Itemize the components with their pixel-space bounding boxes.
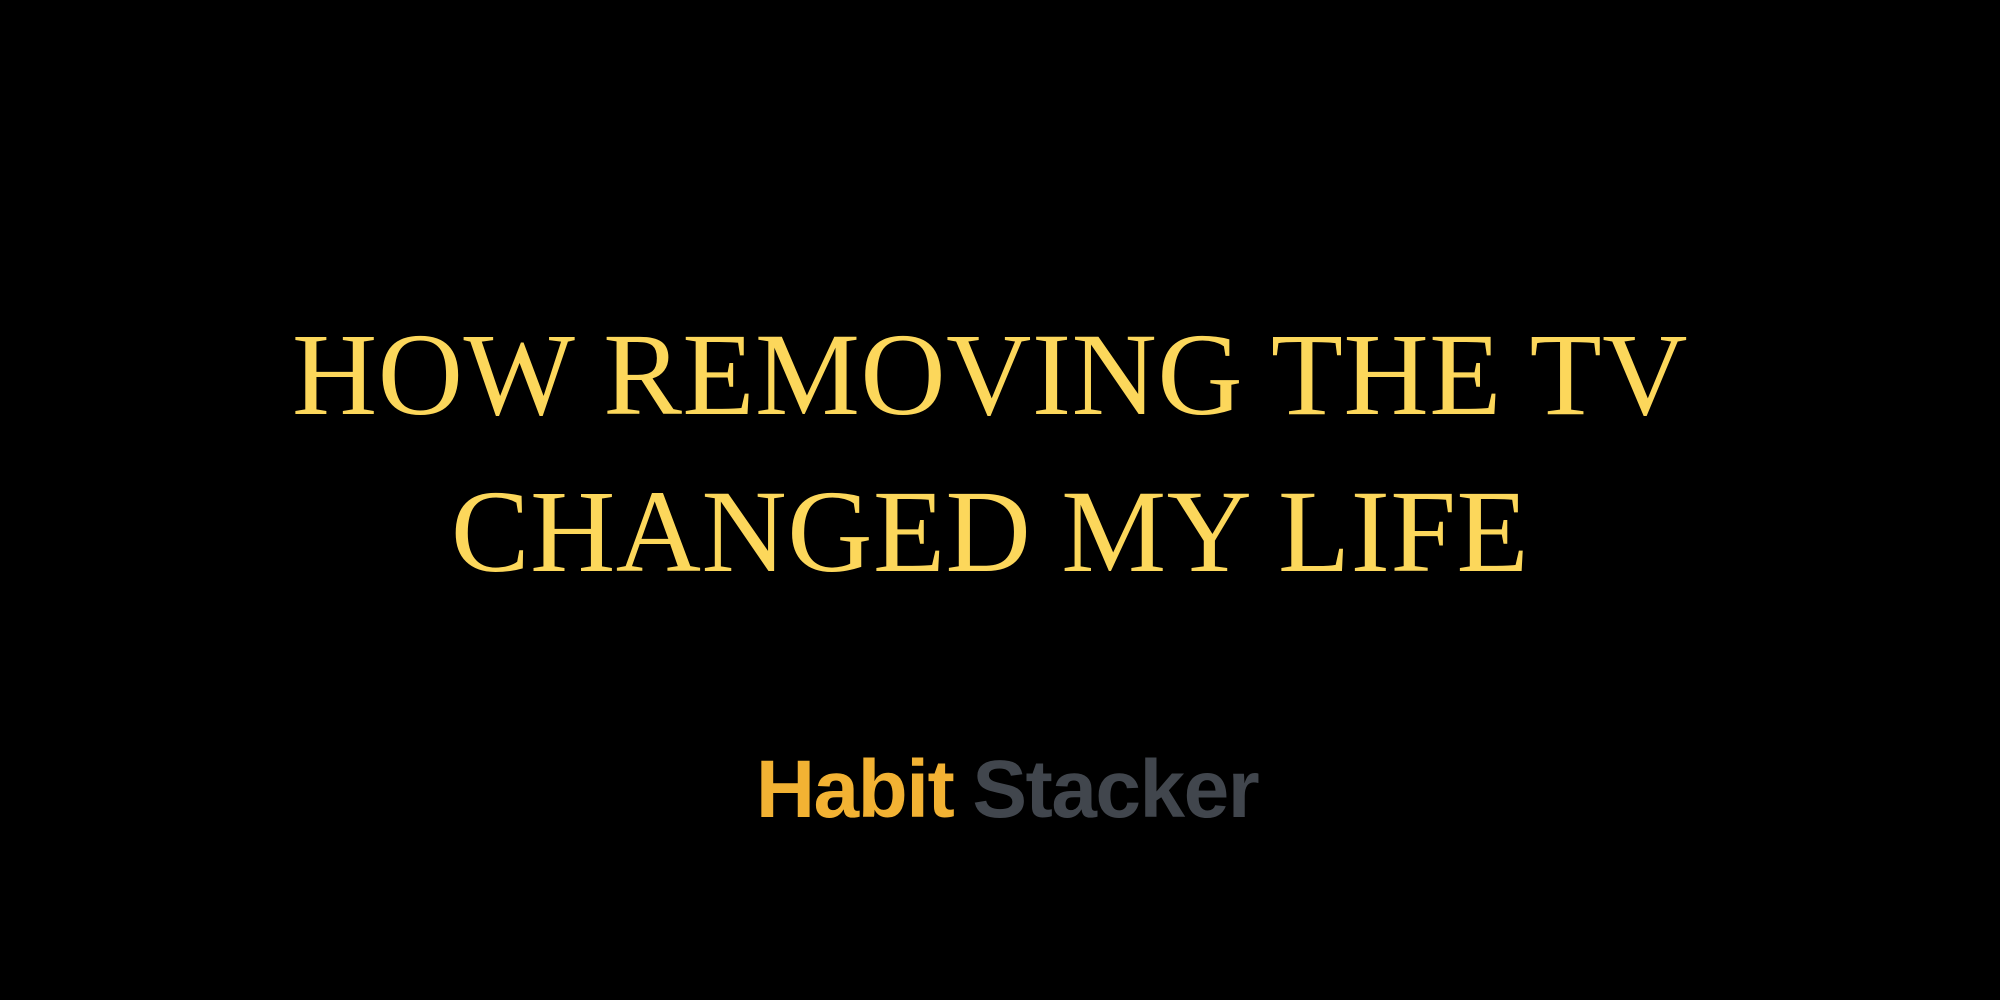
title-line-2: CHANGED MY LIFE (0, 453, 1980, 610)
brand-name-primary: Habit (756, 744, 954, 835)
brand-logo: HabitStacker (0, 742, 2000, 838)
page-title: HOW REMOVING THE TV CHANGED MY LIFE (0, 296, 2000, 610)
brand-name-secondary: Stacker (972, 744, 1258, 835)
title-line-1: HOW REMOVING THE TV (0, 296, 1980, 453)
title-card-slide: HOW REMOVING THE TV CHANGED MY LIFE Habi… (0, 0, 2000, 1000)
